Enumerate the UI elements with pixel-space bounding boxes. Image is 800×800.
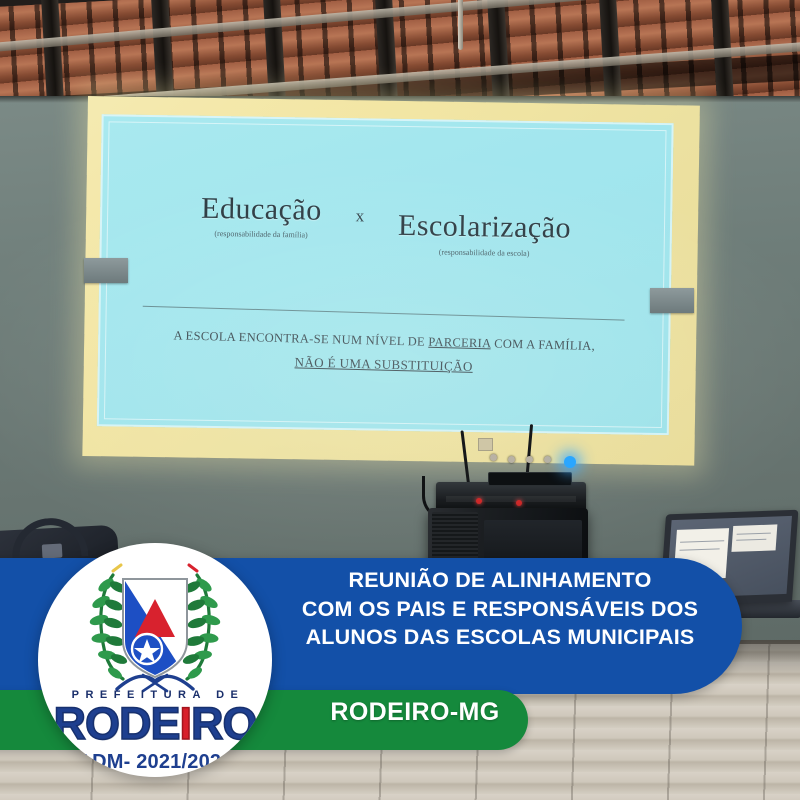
logo-administration-period: ADM- 2021/2024 — [38, 751, 272, 774]
volume-knob — [544, 456, 551, 463]
volume-knob — [508, 456, 515, 463]
logo-city-suffix: RO — [191, 698, 257, 749]
audio-equipment — [428, 432, 598, 572]
screen-mount-bracket-left — [84, 258, 128, 283]
banner-line-2: COM OS PAIS E RESPONSÁVEIS DOS — [300, 595, 700, 624]
receiver-status-led — [516, 500, 522, 506]
logo-city-name: RODEIRO — [38, 701, 272, 746]
slide-body-part-2: COM A FAMÍLIA, — [491, 336, 596, 353]
amplifier-display-slot — [488, 472, 572, 486]
coat-of-arms-icon — [67, 557, 243, 697]
amplifier-power-led — [564, 456, 576, 468]
shield — [123, 579, 187, 677]
slide-heading-separator: x — [356, 206, 365, 226]
slide-headings: Educação (responsabilidade da família) x… — [100, 192, 673, 260]
projection-screen: Educação (responsabilidade da família) x… — [82, 96, 700, 466]
logo-city-prefix: RODE — [53, 698, 179, 749]
banner-headline: REUNIÃO DE ALINHAMENTO COM OS PAIS E RES… — [300, 566, 700, 652]
photo-scene: Educação (responsabilidade da família) x… — [0, 0, 800, 800]
receiver-power-led — [476, 498, 482, 504]
banner-line-1: REUNIÃO DE ALINHAMENTO — [300, 566, 700, 595]
slide-body-emphasis: PARCERIA — [428, 335, 491, 351]
receiver-display-strip — [446, 496, 576, 502]
slide-inner-border — [104, 121, 667, 428]
screen-mount-bracket-right — [650, 288, 694, 313]
roof-hook — [458, 0, 463, 50]
presentation-slide: Educação (responsabilidade da família) x… — [97, 114, 674, 435]
slide-heading-right-group: Escolarização (responsabilidade da escol… — [398, 211, 572, 259]
slide-heading-left-subtitle: (responsabilidade da família) — [201, 229, 322, 240]
prefeitura-logo: PREFEITURA DE RODEIRO ADM- 2021/2024 — [38, 543, 272, 777]
logo-city-accent-letter: I — [180, 698, 192, 749]
slide-heading-right: Escolarização — [398, 211, 572, 244]
slide-heading-left-group: Educação (responsabilidade da família) — [201, 194, 322, 240]
slide-heading-left: Educação — [201, 194, 322, 226]
volume-knob — [526, 456, 533, 463]
banner-location: RODEIRO-MG — [300, 698, 530, 727]
banner-line-3: ALUNOS DAS ESCOLAS MUNICIPAIS — [300, 623, 700, 652]
volume-knob — [490, 454, 497, 461]
